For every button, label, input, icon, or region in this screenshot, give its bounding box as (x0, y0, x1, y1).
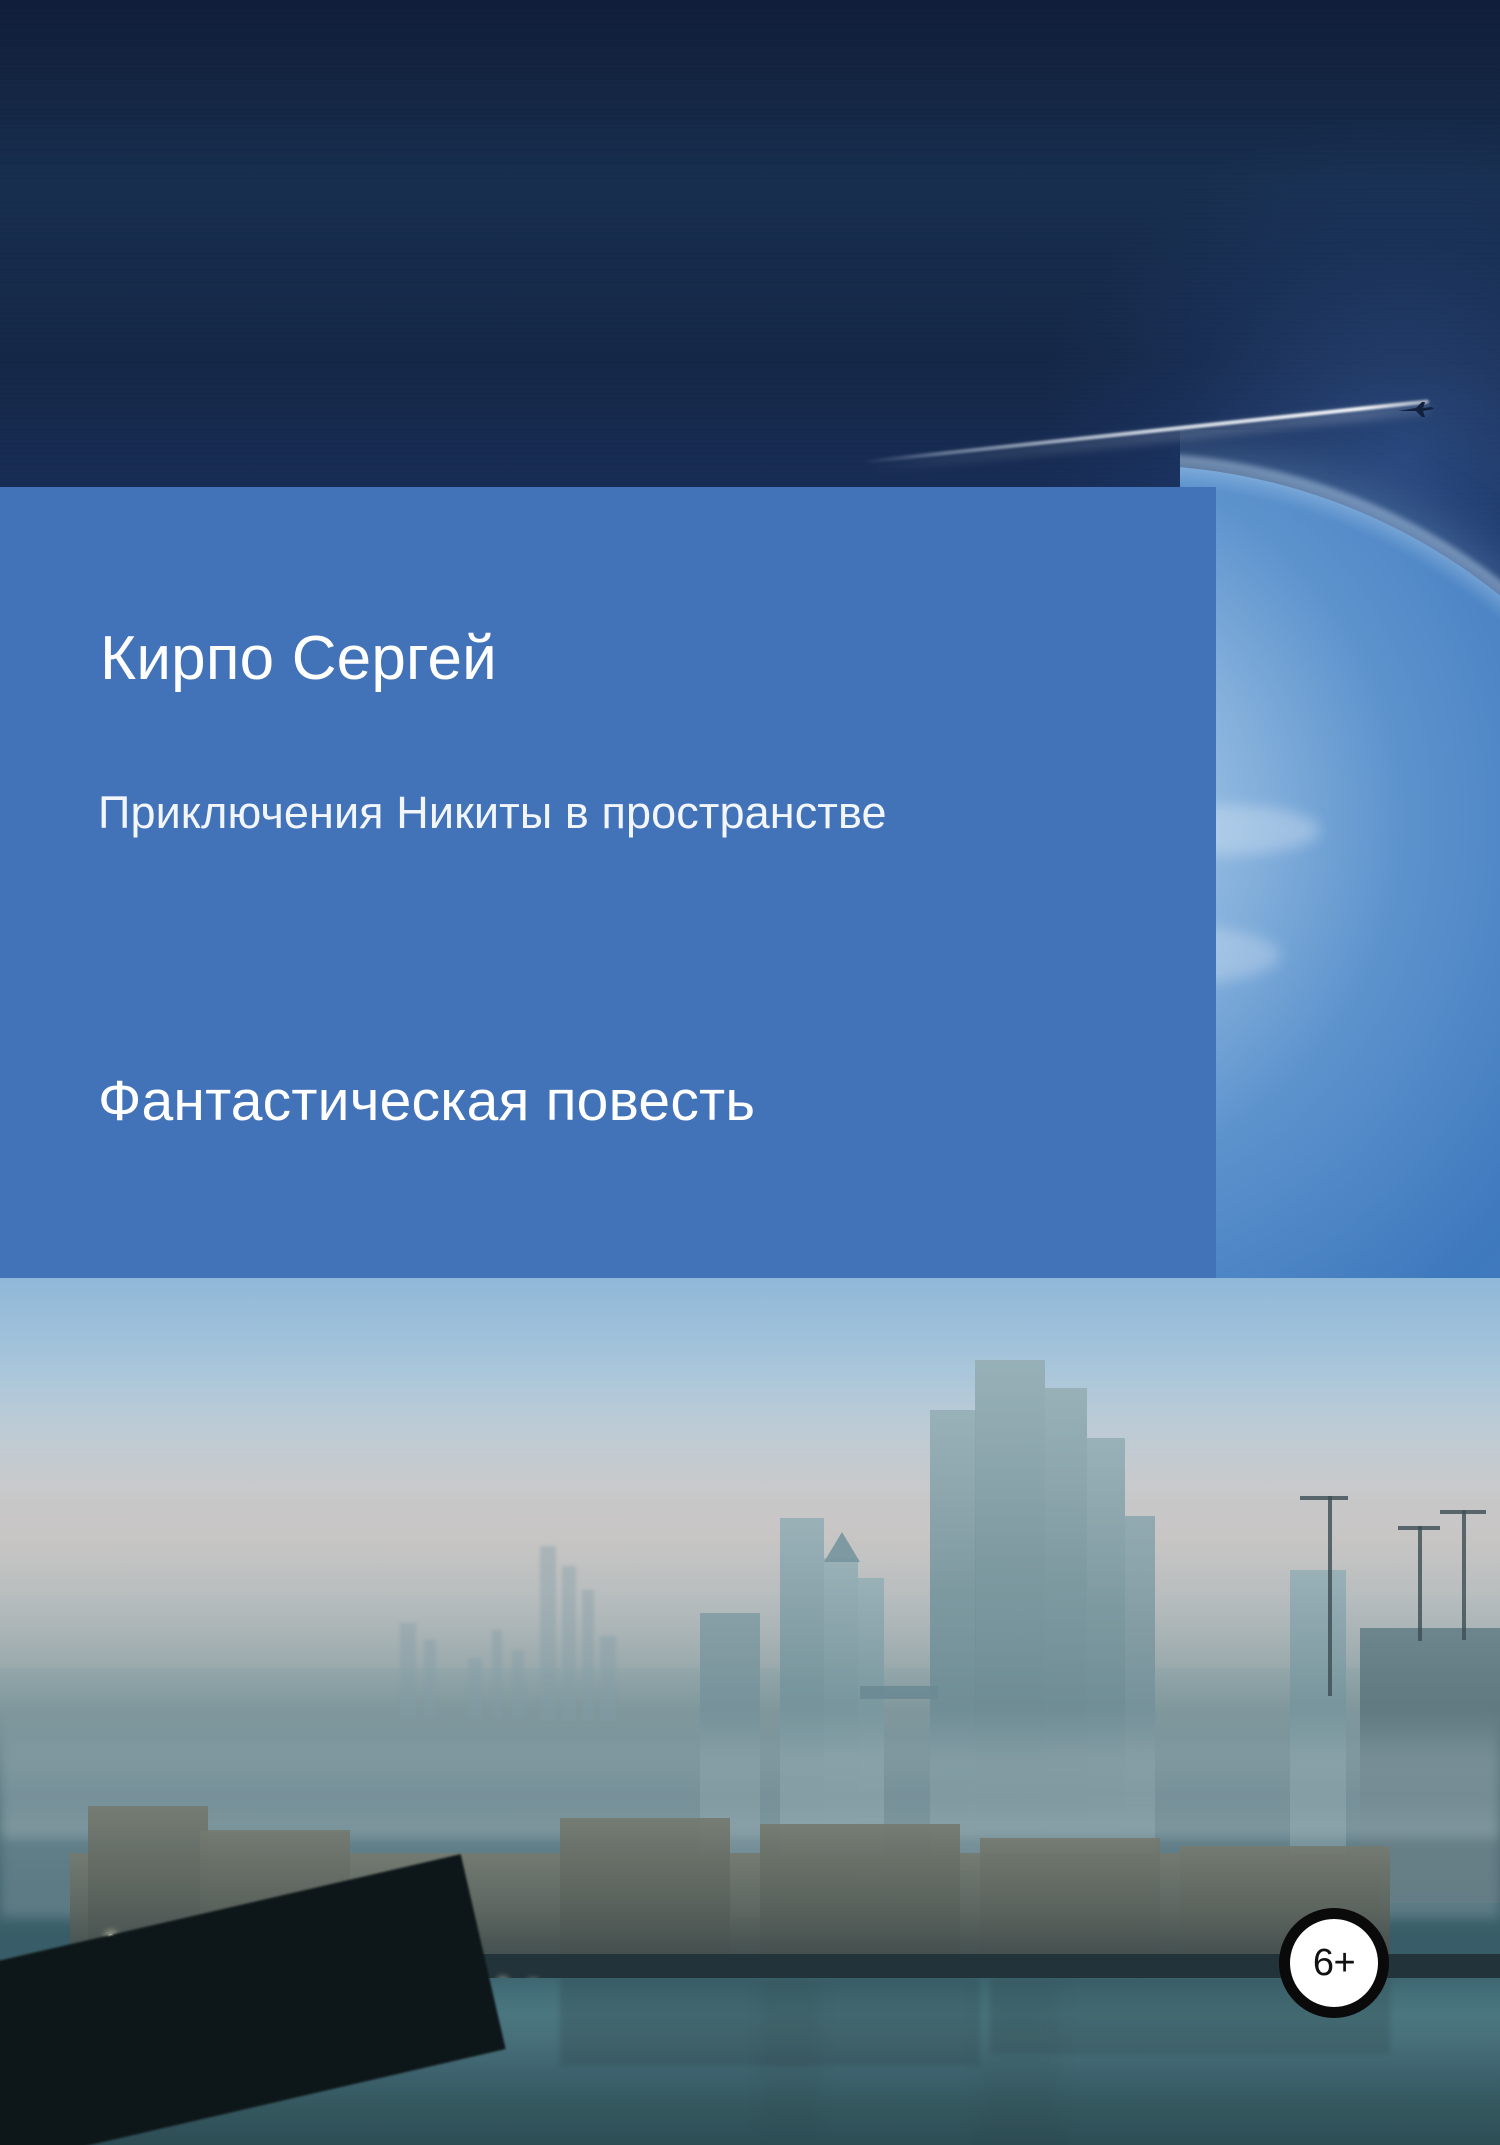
earth-from-orbit (1180, 430, 1500, 1300)
airplane-icon (1396, 399, 1436, 419)
construction-crane (1418, 1526, 1422, 1641)
book-cover: Кирпо Сергей Приключения Никиты в простр… (0, 0, 1500, 2145)
title-panel (0, 487, 1216, 1278)
sky-bridge (860, 1686, 938, 1699)
construction-crane-jib (1300, 1496, 1348, 1500)
tower-spire (824, 1532, 860, 1568)
city-skyline-photo (0, 1278, 1500, 2145)
tower-reflection (980, 1978, 1060, 2143)
waterfront-building (560, 1818, 730, 1964)
construction-crane-jib (1398, 1526, 1440, 1530)
construction-crane (1328, 1496, 1332, 1696)
genre-label: Фантастическая повесть (98, 1068, 755, 1134)
age-rating-text: 6+ (1313, 1944, 1355, 1982)
construction-crane (1462, 1510, 1466, 1640)
construction-crane-jib (1440, 1510, 1486, 1514)
waterfront-building (760, 1824, 960, 1964)
earth-atmosphere-glow (1180, 453, 1500, 1300)
author-name: Кирпо Сергей (100, 623, 497, 694)
age-rating-badge: 6+ (1279, 1908, 1389, 2018)
waterfront-building (980, 1838, 1160, 1964)
tower-reflection (760, 1978, 820, 2128)
book-title: Приключения Никиты в пространстве (98, 787, 887, 839)
